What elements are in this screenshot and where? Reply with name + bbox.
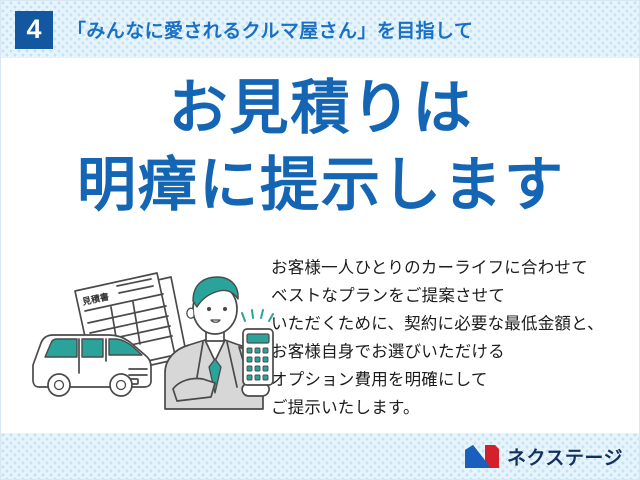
brand-name: ネクステージ (507, 443, 623, 470)
body-copy-line-5: オプション費用を明確にして (271, 366, 631, 394)
footer: ネクステージ (1, 433, 640, 479)
body-copy-line-1: お客様一人ひとりのカーライフに合わせて (271, 254, 631, 282)
header-title: 「みんなに愛されるクルマ屋さん」を目指して (67, 16, 473, 43)
promo-banner: 4 「みんなに愛されるクルマ屋さん」を目指して お見積りは 明瘴に提示します お… (0, 0, 640, 480)
nextage-n-logo-icon (465, 445, 499, 468)
body-copy-line-6: ご提示いたします。 (271, 394, 631, 422)
calculator-illustration (243, 329, 273, 385)
step-number-badge: 4 (15, 11, 53, 49)
headline-line-2: 明瘴に提示します (1, 156, 640, 215)
van-illustration (33, 335, 151, 396)
body-copy: お客様一人ひとりのカーライフに合わせて ベストなプランをご提案させて いただくた… (271, 254, 631, 422)
header: 4 「みんなに愛されるクルマ屋さん」を目指して (1, 1, 640, 58)
illustration-svg: 見積書 (25, 269, 277, 414)
headline: お見積りは 明瘴に提示します (1, 79, 640, 215)
illustration-salesman-estimate: 見積書 (25, 269, 277, 414)
body-copy-line-3: いただくために、契約に必要な最低金額と、 (271, 310, 631, 338)
body-copy-line-4: お客様自身でお選びいただける (271, 338, 631, 366)
headline-line-1: お見積りは (1, 79, 640, 138)
sparkle-icon (242, 310, 273, 321)
body-copy-line-2: ベストなプランをご提案させて (271, 282, 631, 310)
